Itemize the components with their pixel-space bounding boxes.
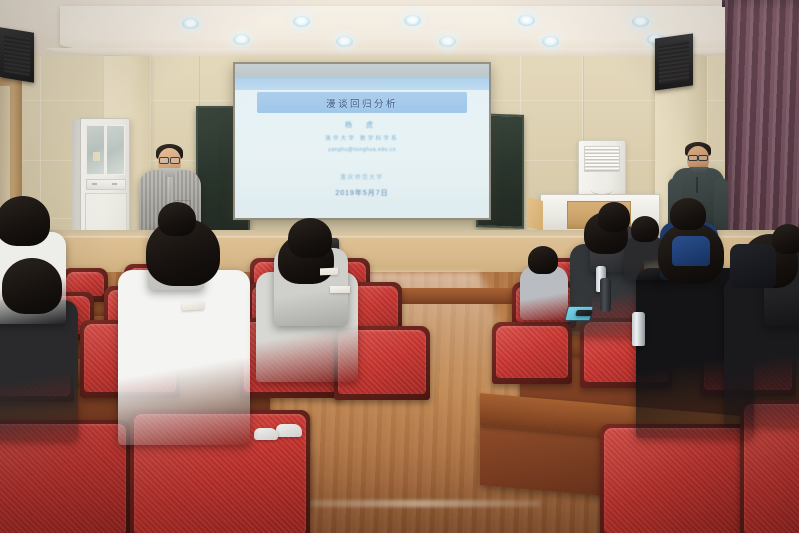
ceiling-light bbox=[518, 15, 535, 26]
paper-sheets-3 bbox=[330, 286, 350, 293]
glasses-icon bbox=[159, 157, 180, 162]
speaker-icon-left bbox=[0, 27, 34, 82]
blue-backpack bbox=[672, 236, 710, 266]
floor-light-reflection bbox=[300, 500, 540, 507]
slide-email: yanghu@tsinghua.edu.cn bbox=[235, 147, 489, 153]
glasses-icon bbox=[688, 155, 708, 159]
slide-title: 漫谈回归分析 bbox=[326, 96, 398, 110]
ceiling-light bbox=[293, 16, 310, 27]
lectern-side-panel bbox=[527, 197, 543, 231]
cabinet-glass-door-left bbox=[86, 125, 105, 175]
shoe-right bbox=[254, 428, 278, 440]
projection-screen: 漫谈回归分析 杨 虎 清华大学 数学科学系 yanghu@tsinghua.ed… bbox=[233, 62, 491, 220]
water-bottle[interactable] bbox=[600, 278, 611, 312]
paper-sheets bbox=[182, 301, 204, 310]
ceiling-light bbox=[233, 34, 250, 45]
student-left-edge-head bbox=[2, 258, 62, 314]
student-rear-aisle-head bbox=[631, 216, 659, 242]
ac-vent bbox=[584, 146, 620, 172]
slide-title-bar: 漫谈回归分析 bbox=[257, 92, 467, 113]
cabinet-glass-door-right bbox=[106, 125, 125, 175]
seat-near-3-cushion[interactable] bbox=[604, 428, 746, 533]
student-far-left-top-head bbox=[0, 196, 50, 246]
student-rear-center-head bbox=[158, 202, 196, 236]
slide-date: 2019年5月7日 bbox=[235, 188, 489, 198]
ceiling-light bbox=[632, 16, 649, 27]
student-far-right-end-head bbox=[772, 224, 799, 254]
slide-affiliation: 清华大学 数学科学系 bbox=[235, 134, 489, 142]
ceiling-light bbox=[404, 15, 421, 26]
student-rear-right-head bbox=[598, 202, 630, 232]
student-blue-backpack-head bbox=[670, 198, 706, 230]
vacuum-flask[interactable] bbox=[632, 312, 645, 346]
shoe-left bbox=[276, 424, 302, 437]
ceiling-light bbox=[182, 18, 199, 29]
black-bag bbox=[730, 244, 776, 288]
lecture-hall-photo: 漫谈回归分析 杨 虎 清华大学 数学科学系 yanghu@tsinghua.ed… bbox=[0, 0, 799, 533]
ceiling-light bbox=[336, 36, 353, 47]
slide-author: 杨 虎 bbox=[235, 120, 489, 130]
slide-top-band bbox=[235, 78, 489, 90]
ceiling-light bbox=[439, 36, 456, 47]
student-checkered-torso bbox=[520, 266, 568, 320]
paper-sheets-2 bbox=[320, 268, 338, 276]
mobile-phone[interactable] bbox=[575, 310, 592, 316]
storage-cabinet bbox=[80, 118, 130, 244]
slide-venue: 重庆师范大学 bbox=[235, 173, 489, 181]
seat-front-5-cushion[interactable] bbox=[496, 326, 568, 378]
speaker-icon-right bbox=[655, 33, 693, 90]
seat-near-1-cushion[interactable] bbox=[0, 424, 126, 533]
student-checkered-head bbox=[528, 246, 558, 274]
student-grey-stripe-head bbox=[288, 218, 332, 258]
student-white-tshirt-torso bbox=[118, 270, 250, 445]
